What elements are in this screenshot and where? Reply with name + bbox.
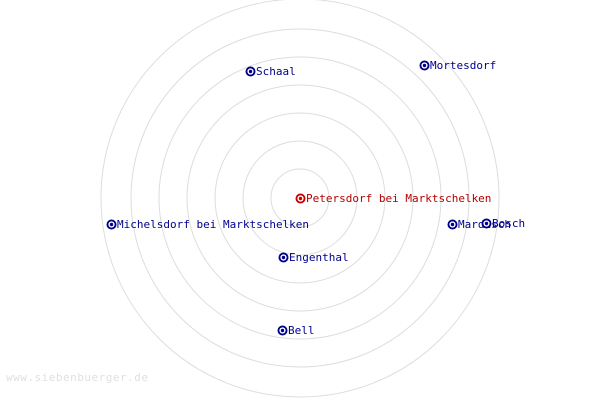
map-place-marker[interactable]: Bell (277, 324, 315, 336)
ring-marker-red-icon[interactable] (295, 193, 306, 204)
map-place-marker[interactable]: Schaal (245, 65, 296, 77)
ring-marker-blue-icon[interactable] (277, 325, 288, 336)
ring-marker-blue-icon[interactable] (106, 219, 117, 230)
map-place-marker[interactable]: Bosch (481, 217, 525, 229)
map-place-marker[interactable]: Mortesdorf (419, 59, 496, 71)
ring-marker-blue-icon[interactable] (419, 60, 430, 71)
watermark: www.siebenbuerger.de (6, 372, 148, 384)
ring-marker-blue-icon[interactable] (447, 219, 458, 230)
place-label: Michelsdorf bei Marktschelken (117, 219, 309, 230)
place-label: Petersdorf bei Marktschelken (306, 193, 491, 204)
map-place-marker[interactable]: Engenthal (278, 251, 349, 263)
place-label: Bosch (492, 218, 525, 229)
ring-marker-blue-icon[interactable] (245, 66, 256, 77)
place-label: Engenthal (289, 252, 349, 263)
place-label: Mortesdorf (430, 60, 496, 71)
ring-marker-blue-icon[interactable] (481, 218, 492, 229)
place-label: Schaal (256, 66, 296, 77)
map-canvas[interactable]: SchaalMortesdorfMichelsdorf bei Marktsch… (0, 0, 600, 400)
map-place-center[interactable]: Petersdorf bei Marktschelken (295, 192, 491, 204)
map-place-marker[interactable]: Michelsdorf bei Marktschelken (106, 218, 309, 230)
place-label: Bell (288, 325, 315, 336)
ring-marker-blue-icon[interactable] (278, 252, 289, 263)
